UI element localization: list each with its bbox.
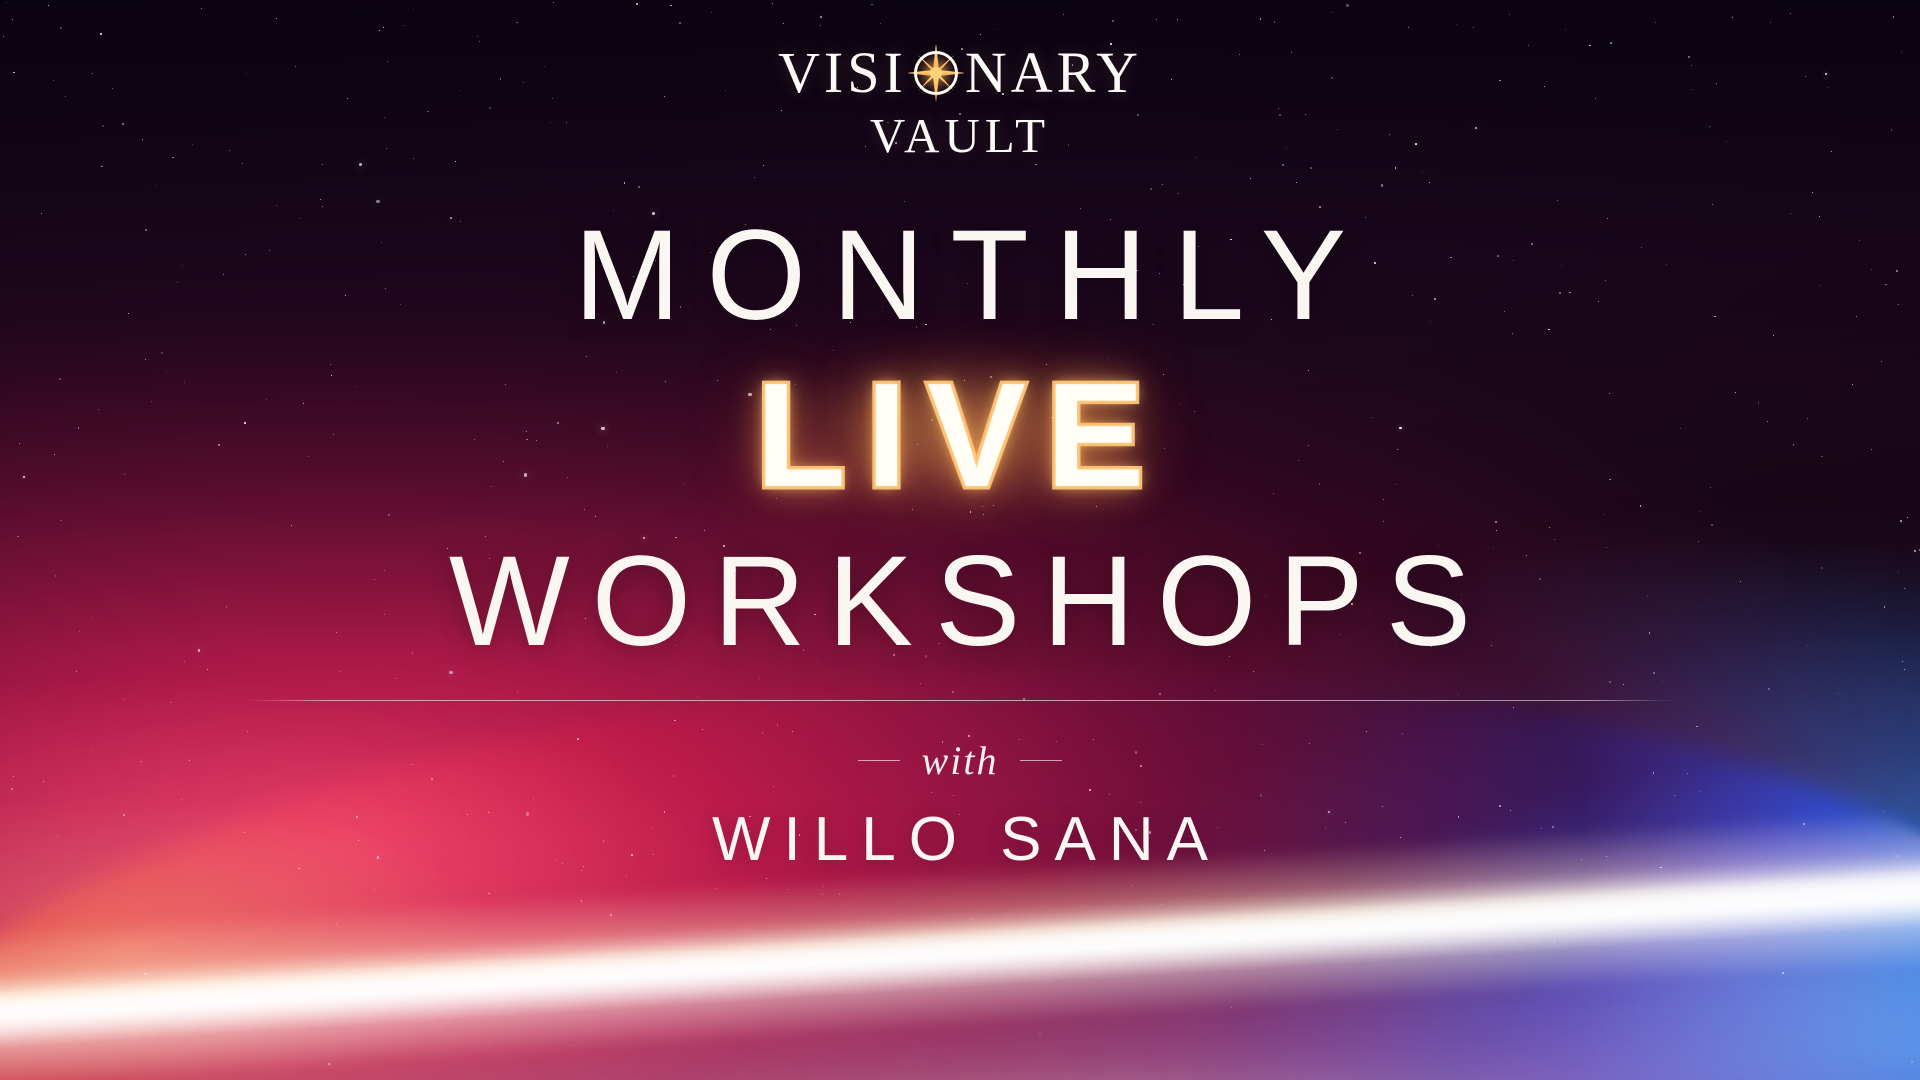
brand-text-after: NARY: [965, 44, 1142, 102]
with-dash-right: [1020, 760, 1062, 761]
divider-rule: [245, 700, 1675, 701]
poster-content: VISI: [0, 0, 1920, 1080]
poster-canvas: VISI: [0, 0, 1920, 1080]
starburst-icon: [908, 45, 964, 101]
with-label: with: [922, 737, 999, 784]
headline-block: MONTHLY LIVE WORKSHOPS: [0, 212, 1920, 666]
brand-line-visionary: VISI: [778, 44, 1142, 102]
with-row: with: [858, 737, 1063, 784]
headline-live-highlight: LIVE: [756, 353, 1165, 518]
brand-line-vault: VAULT: [778, 111, 1142, 160]
brand-logo: VISI: [778, 44, 1142, 160]
brand-text-before: VISI: [778, 44, 907, 102]
with-dash-left: [858, 760, 900, 761]
starburst-core-icon: [930, 67, 942, 79]
headline-line-workshops: WORKSHOPS: [0, 538, 1920, 666]
presenter-name: WILLO SANA: [699, 804, 1221, 875]
headline-live-wrapper: LIVE: [756, 362, 1165, 510]
headline-line-monthly: MONTHLY: [0, 212, 1920, 340]
